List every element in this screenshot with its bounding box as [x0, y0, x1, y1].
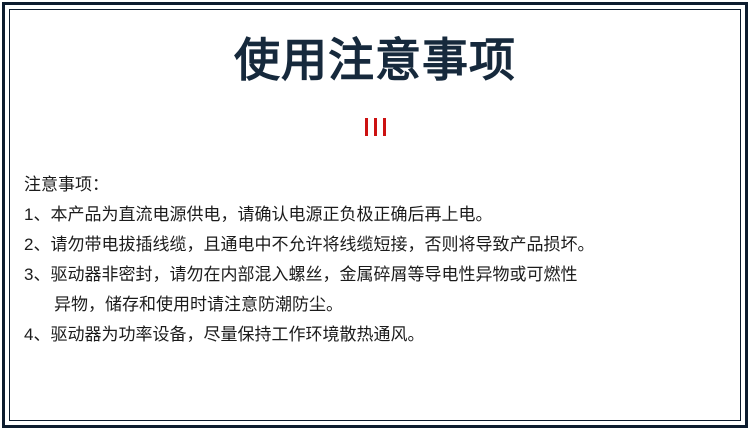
triple-bar-divider-icon [10, 118, 740, 136]
note-item: 3、驱动器非密封，请勿在内部混入螺丝，金属碎屑等导电性异物或可燃性 [24, 260, 726, 290]
page-title: 使用注意事项 [10, 36, 740, 84]
notice-page: 使用注意事项 注意事项： 1、本产品为直流电源供电，请确认电源正负极正确后再上电… [0, 0, 750, 430]
note-item: 1、本产品为直流电源供电，请确认电源正负极正确后再上电。 [24, 200, 726, 230]
divider-bar-2 [374, 118, 377, 136]
notes-heading: 注意事项： [24, 170, 726, 200]
note-item: 4、驱动器为功率设备，尽量保持工作环境散热通风。 [24, 320, 726, 350]
page-content: 使用注意事项 注意事项： 1、本产品为直流电源供电，请确认电源正负极正确后再上电… [10, 10, 740, 420]
note-item-continuation: 异物，储存和使用时请注意防潮防尘。 [24, 290, 726, 320]
divider-bar-1 [365, 118, 368, 136]
divider-bar-3 [383, 118, 386, 136]
notes-section: 注意事项： 1、本产品为直流电源供电，请确认电源正负极正确后再上电。 2、请勿带… [24, 170, 726, 350]
note-item: 2、请勿带电拔插线缆，且通电中不允许将线缆短接，否则将导致产品损坏。 [24, 230, 726, 260]
